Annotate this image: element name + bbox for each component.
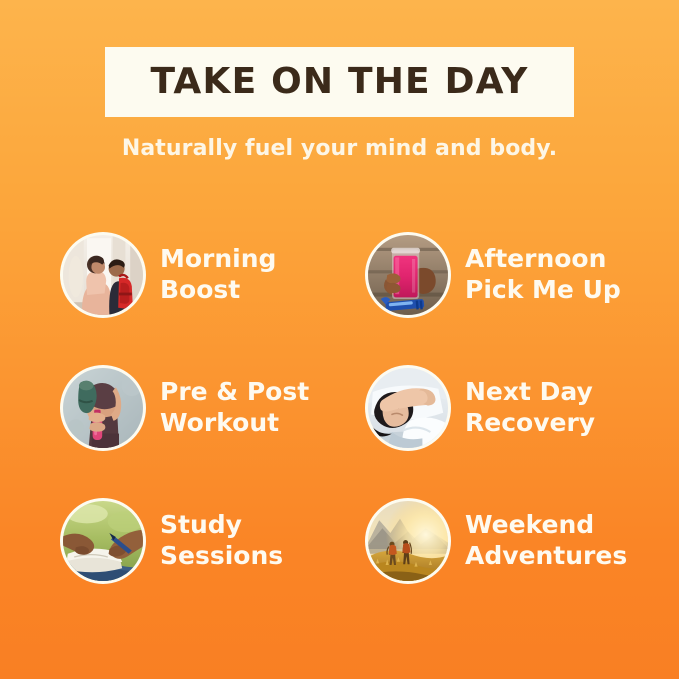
- hand-holding-pink-drink-photo: [368, 235, 448, 315]
- benefit-thumb-ring: [60, 498, 146, 584]
- benefit-thumb-ring: [60, 365, 146, 451]
- benefit-thumb-ring: [365, 498, 451, 584]
- benefit-item-morning-boost: Morning Boost: [60, 208, 355, 341]
- benefit-item-afternoon-pick-me-up: Afternoon Pick Me Up: [365, 208, 660, 341]
- benefit-label: Morning Boost: [160, 244, 276, 305]
- benefit-label: Next Day Recovery: [465, 377, 595, 438]
- benefit-item-study-sessions: Study Sessions: [60, 474, 355, 607]
- benefits-grid: Morning Boost: [60, 208, 660, 608]
- benefit-item-weekend-adventures: Weekend Adventures: [365, 474, 660, 607]
- promotional-poster: TAKE ON THE DAY Naturally fuel your mind…: [0, 0, 679, 679]
- benefit-item-next-day-recovery: Next Day Recovery: [365, 341, 660, 474]
- benefit-item-pre-and-post-workout: Pre & Post Workout: [60, 341, 355, 474]
- benefit-thumb-ring: [365, 365, 451, 451]
- benefit-label: Weekend Adventures: [465, 510, 627, 571]
- page-title: TAKE ON THE DAY: [150, 64, 528, 100]
- hands-writing-notes-photo: [63, 501, 143, 581]
- title-banner: TAKE ON THE DAY: [105, 47, 574, 117]
- page-subtitle: Naturally fuel your mind and body.: [0, 136, 679, 161]
- hikers-at-sunrise-photo: [368, 501, 448, 581]
- benefit-label: Study Sessions: [160, 510, 283, 571]
- benefit-label: Afternoon Pick Me Up: [465, 244, 621, 305]
- benefit-label: Pre & Post Workout: [160, 377, 309, 438]
- woman-with-yoga-mat-photo: [63, 368, 143, 448]
- woman-resting-in-bed-photo: [368, 368, 448, 448]
- benefit-thumb-ring: [365, 232, 451, 318]
- benefit-thumb-ring: [60, 232, 146, 318]
- mother-and-child-with-backpack-photo: [63, 235, 143, 315]
